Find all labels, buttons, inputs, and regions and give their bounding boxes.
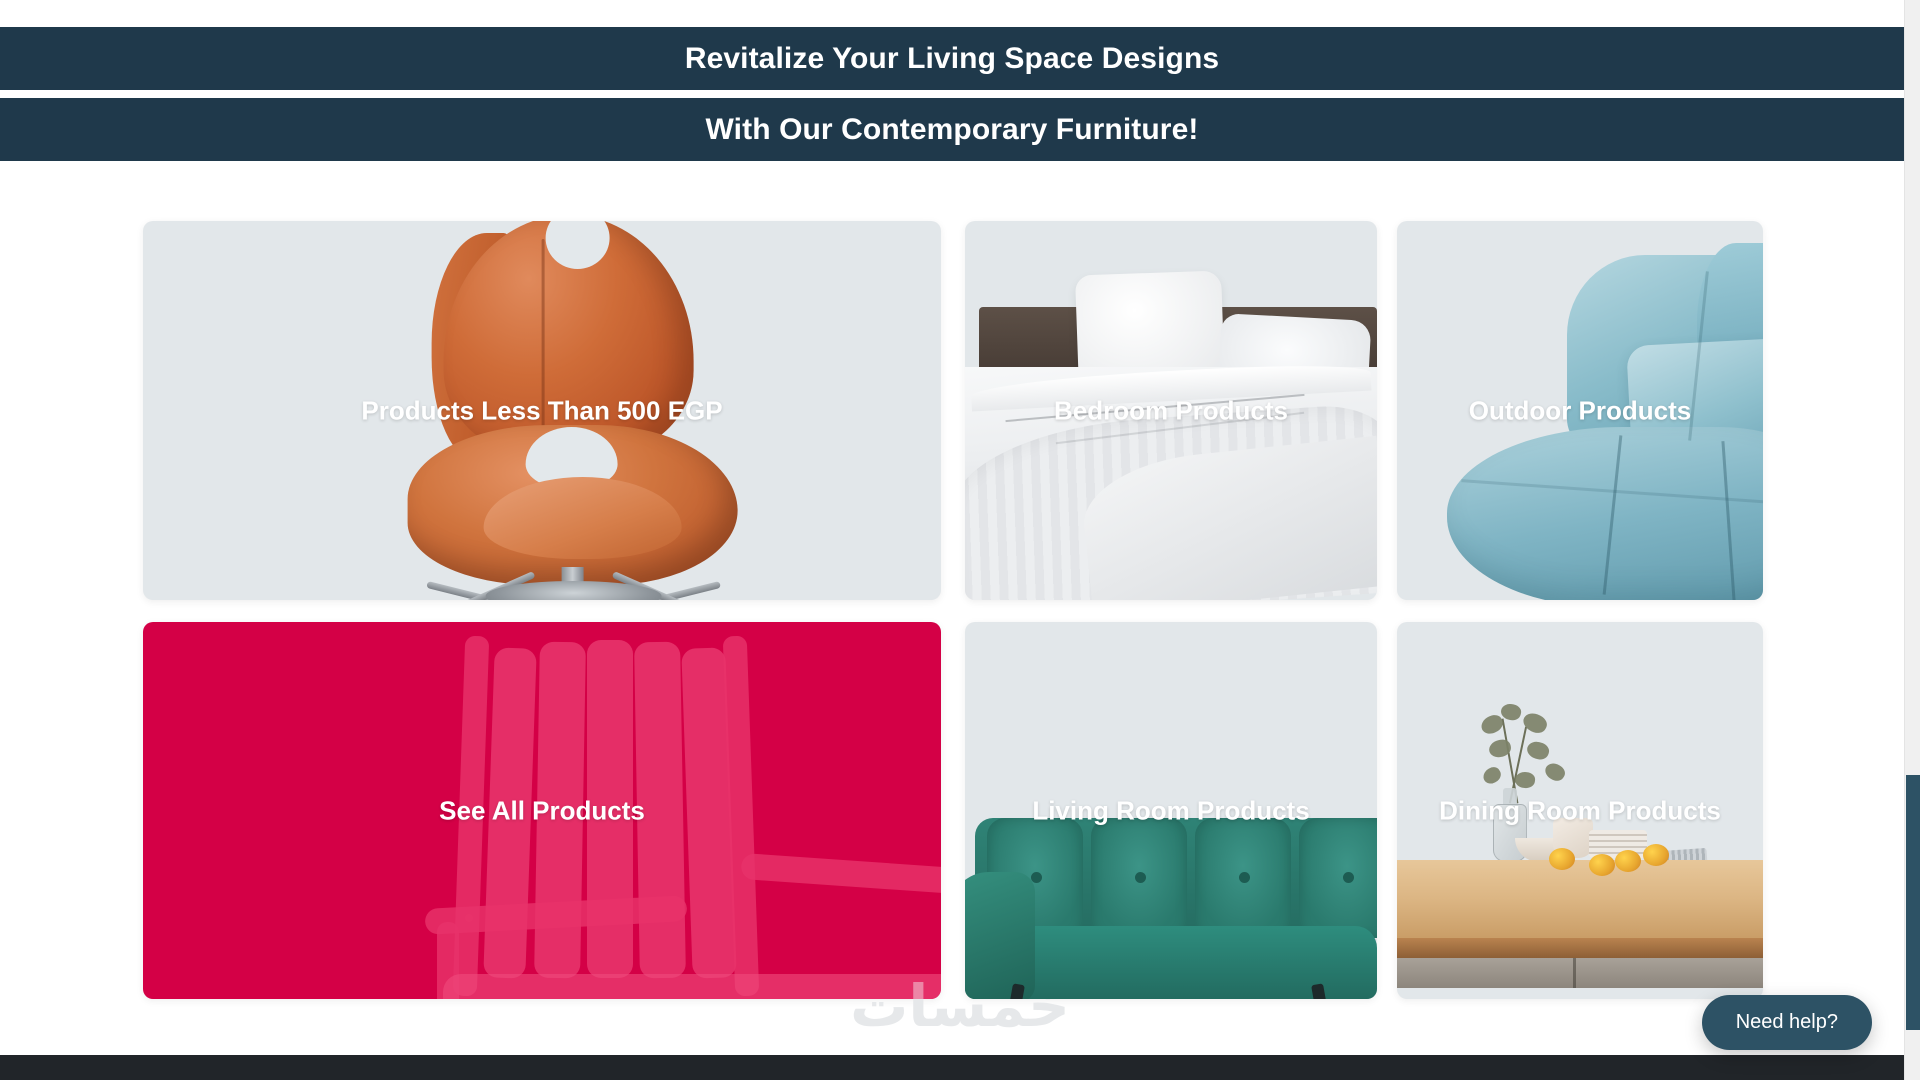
category-card-see-all-products[interactable]: See All Products — [143, 622, 941, 999]
headline-banner-secondary-text: With Our Contemporary Furniture! — [706, 113, 1199, 147]
category-grid: Products Less Than 500 EGP Bedroom Produ… — [143, 221, 1763, 999]
page-root: Revitalize Your Living Space Designs Wit… — [0, 0, 1920, 1080]
footer-bar — [0, 1055, 1904, 1080]
orange-egg-chair-illustration — [143, 221, 941, 600]
page-scrollbar-thumb[interactable] — [1906, 775, 1920, 1030]
need-help-button[interactable]: Need help? — [1702, 995, 1872, 1050]
category-card-products-less-than-500[interactable]: Products Less Than 500 EGP — [143, 221, 941, 600]
headline-banner-primary-text: Revitalize Your Living Space Designs — [685, 42, 1219, 76]
need-help-label: Need help? — [1736, 1011, 1838, 1033]
headline-banner-primary: Revitalize Your Living Space Designs — [0, 27, 1904, 90]
teal-beanbag-illustration — [1397, 221, 1763, 600]
pink-armchair-illustration — [143, 622, 941, 999]
category-card-living-room-products[interactable]: Living Room Products — [965, 622, 1377, 999]
page-scrollbar[interactable] — [1904, 0, 1920, 1080]
category-card-bedroom-products[interactable]: Bedroom Products — [965, 221, 1377, 600]
headline-banner-secondary: With Our Contemporary Furniture! — [0, 98, 1904, 161]
category-card-outdoor-products[interactable]: Outdoor Products — [1397, 221, 1763, 600]
green-sofa-illustration — [965, 622, 1377, 999]
dining-table-illustration — [1397, 622, 1763, 999]
category-card-dining-room-products[interactable]: Dining Room Products — [1397, 622, 1763, 999]
white-bed-illustration — [965, 221, 1377, 600]
